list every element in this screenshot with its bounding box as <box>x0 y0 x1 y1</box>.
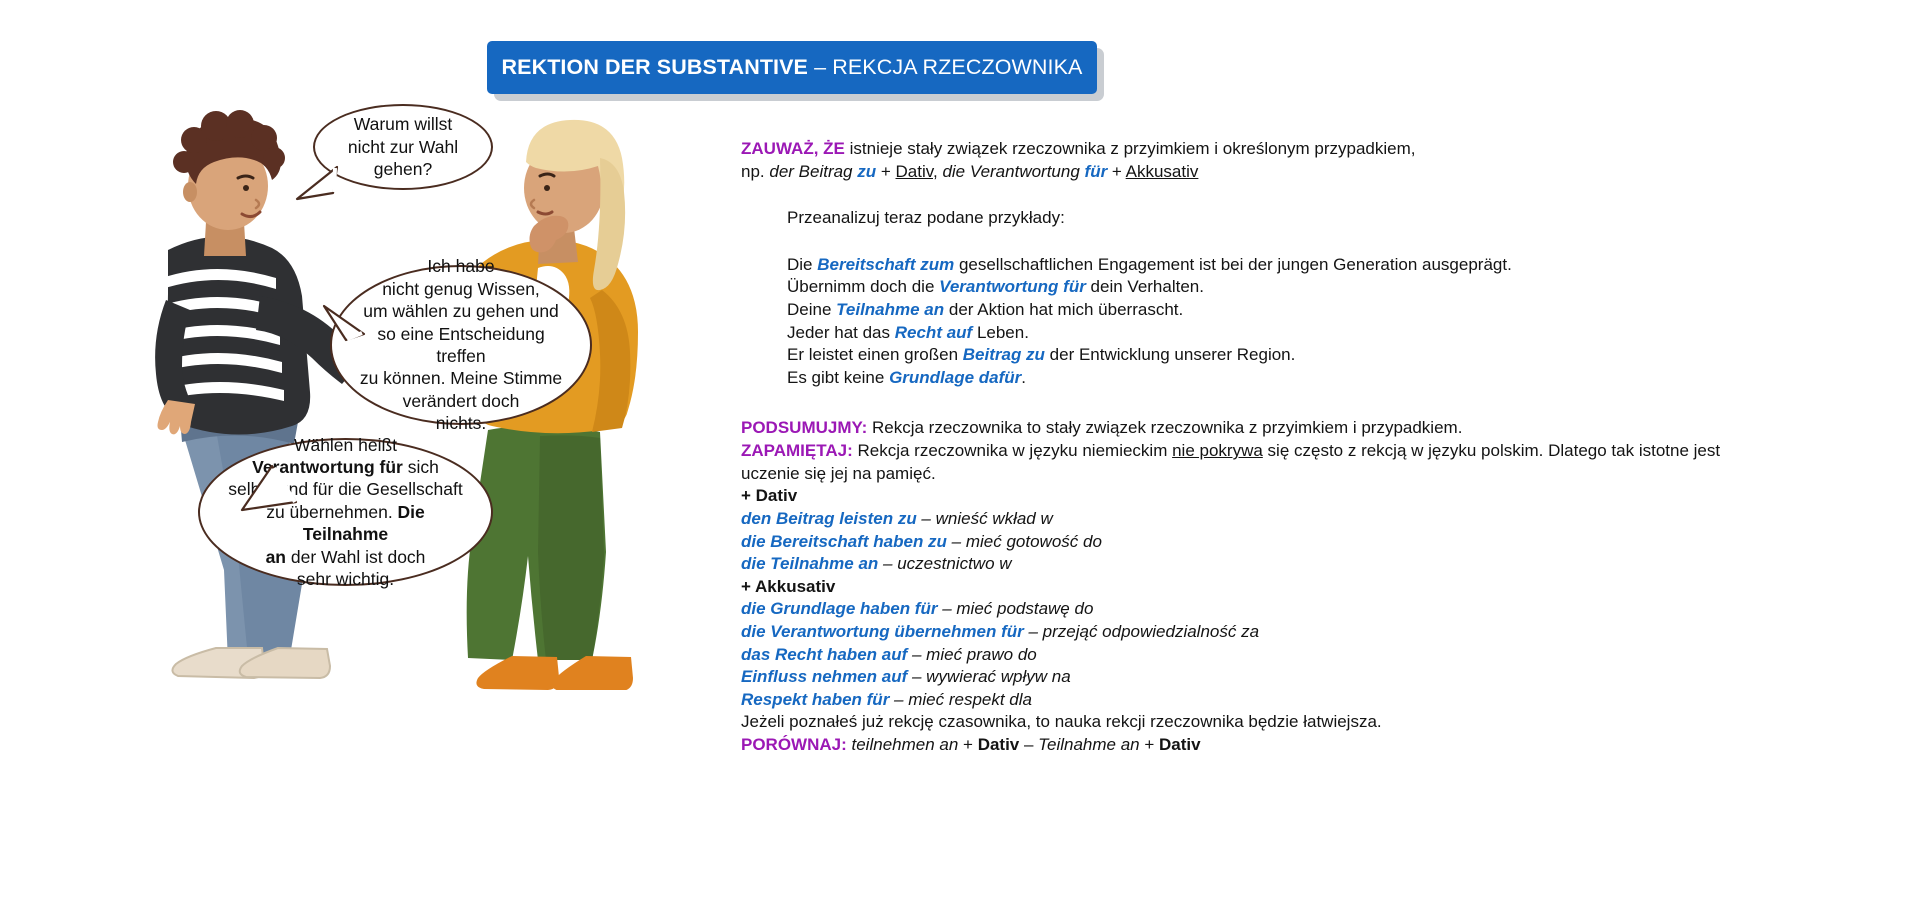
vocab-polish: mieć respekt dla <box>908 690 1032 709</box>
case-akkusativ-1: Akkusativ <box>1126 162 1199 181</box>
intro-line-1: ZAUWAŻ, ŻE istnieje stały związek rzeczo… <box>741 138 1751 161</box>
vocab-german: die Grundlage haben für <box>741 599 937 618</box>
vocab-german: das Recht haben auf <box>741 645 907 664</box>
bubble-line: verändert doch <box>354 390 568 412</box>
vocab-german: die Bereitschaft haben zu <box>741 532 947 551</box>
summary-block: PODSUMUJMY: Rekcja rzeczownika to stały … <box>741 417 1751 485</box>
vocab-dash: – <box>947 532 966 551</box>
bubble-line: Wählen heißt <box>224 434 467 456</box>
bubble-bold-phrase: an <box>266 547 286 567</box>
example-sentence: Er leistet einen großen Beitrag zu der E… <box>787 344 1751 367</box>
intro-block: ZAUWAŻ, ŻE istnieje stały związek rzeczo… <box>741 138 1751 183</box>
sentence-pre: Es gibt keine <box>787 368 889 387</box>
example-sentence: Übernimm doch die Verantwortung für dein… <box>787 276 1751 299</box>
vocab-german: die Teilnahme an <box>741 554 878 573</box>
vocab-polish: uczestnictwo w <box>897 554 1011 573</box>
vocab-dash: – <box>889 690 908 709</box>
example-sentence: Deine Teilnahme an der Aktion hat mich ü… <box>787 299 1751 322</box>
bubble-line: nicht genug Wissen, <box>354 278 568 300</box>
vocab-item: Respekt haben für – mieć respekt dla <box>741 689 1751 712</box>
bubble-line: nicht zur Wahl <box>348 136 458 158</box>
dativ-list: den Beitrag leisten zu – wnieść wkład w … <box>741 508 1751 576</box>
vocab-polish: wnieść wkład w <box>936 509 1053 528</box>
german-phrase: Teilnahme an <box>836 300 944 319</box>
zapamietaj-line: ZAPAMIĘTAJ: Rekcja rzeczownika w języku … <box>741 440 1751 485</box>
vocab-polish: wywierać wpływ na <box>926 667 1071 686</box>
sentence-pre: Er leistet einen großen <box>787 345 963 364</box>
speech-bubble-question: Warum willst nicht zur Wahl gehen? <box>313 104 493 190</box>
zapamietaj-underlined: nie pokrywa <box>1172 441 1263 460</box>
vocab-item: die Grundlage haben für – mieć podstawę … <box>741 598 1751 621</box>
vocab-german: Respekt haben für <box>741 690 889 709</box>
plus-2: + <box>1107 162 1125 181</box>
example-sentence: Es gibt keine Grundlage dafür. <box>787 367 1751 390</box>
bubble-line: so eine Entscheidung treffen <box>354 323 568 368</box>
spacer <box>741 230 1751 254</box>
keyword-zauwaz: ZAUWAŻ, ŻE <box>741 139 845 158</box>
bubble-line: nichts. <box>354 412 568 434</box>
german-phrase: Recht auf <box>895 323 972 342</box>
vocab-dash: – <box>907 645 926 664</box>
vocab-item: die Bereitschaft haben zu – mieć gotowoś… <box>741 531 1751 554</box>
sentence-post: gesellschaftlichen Engagement ist bei de… <box>954 255 1512 274</box>
speech-bubble-answer: Ich habe nicht genug Wissen, um wählen z… <box>330 265 592 425</box>
vocab-polish: przejąć odpowiedzialność za <box>1043 622 1259 641</box>
case-dativ-1: Dativ <box>896 162 933 181</box>
bubble-line: gehen? <box>348 158 458 180</box>
intro-prefix: np. <box>741 162 769 181</box>
grammar-content: ZAUWAŻ, ŻE istnieje stały związek rzeczo… <box>741 138 1751 757</box>
compare-noun-phrase: Teilnahme an <box>1038 735 1139 754</box>
vocab-polish: mieć prawo do <box>926 645 1037 664</box>
bubble-line: an der Wahl ist doch <box>224 546 467 568</box>
compare-verb-phrase: teilnehmen an <box>847 735 959 754</box>
compare-plus-2: + <box>1140 735 1159 754</box>
podsumujmy-text: Rekcja rzeczownika to stały związek rzec… <box>867 418 1462 437</box>
examples-list: Die Bereitschaft zum gesellschaftlichen … <box>741 254 1751 390</box>
vocab-dash: – <box>878 554 897 573</box>
vocab-item: den Beitrag leisten zu – wnieść wkład w <box>741 508 1751 531</box>
porownaj-line: PORÓWNAJ: teilnehmen an + Dativ – Teilna… <box>741 734 1751 757</box>
sentence-post: Leben. <box>972 323 1029 342</box>
bubble-text: sich <box>403 457 439 477</box>
header-banner-wrapper: REKTION DER SUBSTANTIVE – REKCJA RZECZOW… <box>487 41 1097 94</box>
intro-line-2: np. der Beitrag zu + Dativ, die Verantwo… <box>741 161 1751 184</box>
preposition-fuer: für <box>1085 162 1108 181</box>
banner-title-bold: REKTION DER SUBSTANTIVE <box>502 55 809 79</box>
sentence-pre: Übernimm doch die <box>787 277 939 296</box>
vocab-dash: – <box>1024 622 1043 641</box>
vocab-item: Einfluss nehmen auf – wywierać wpływ na <box>741 666 1751 689</box>
vocab-item: die Teilnahme an – uczestnictwo w <box>741 553 1751 576</box>
spacer <box>741 183 1751 207</box>
dativ-heading: + Dativ <box>741 485 1751 508</box>
banner-title-rest: – REKCJA RZECZOWNIKA <box>808 55 1082 79</box>
examples-heading: Przeanalizuj teraz podane przykłady: <box>741 207 1751 230</box>
bubble-answer-tail <box>318 300 366 346</box>
keyword-podsumujmy: PODSUMUJMY: <box>741 418 867 437</box>
plus-1: + <box>876 162 895 181</box>
bubble-question-tail <box>293 163 339 203</box>
german-phrase: Grundlage dafür <box>889 368 1021 387</box>
sentence-pre: Deine <box>787 300 836 319</box>
bubble-line: sehr wichtig. <box>224 568 467 590</box>
vocab-dash: – <box>937 599 956 618</box>
keyword-porownaj: PORÓWNAJ: <box>741 735 847 754</box>
bubble-text: der Wahl ist doch <box>286 547 425 567</box>
page-title: REKTION DER SUBSTANTIVE – REKCJA RZECZOW… <box>502 55 1083 80</box>
sentence-post: der Aktion hat mich überrascht. <box>944 300 1183 319</box>
vocab-polish: mieć podstawę do <box>956 599 1093 618</box>
vocab-german: den Beitrag leisten zu <box>741 509 917 528</box>
sentence-post: dein Verhalten. <box>1086 277 1204 296</box>
example-sentence: Die Bereitschaft zum gesellschaftlichen … <box>787 254 1751 277</box>
podsumujmy-line: PODSUMUJMY: Rekcja rzeczownika to stały … <box>741 417 1751 440</box>
bubble-line: zu können. Meine Stimme <box>354 367 568 389</box>
sentence-pre: Die <box>787 255 817 274</box>
bubble-line: Ich habe <box>354 255 568 277</box>
spacer <box>741 389 1751 417</box>
example-phrase-2: die Verantwortung <box>942 162 1084 181</box>
bubble-line: um wählen zu gehen und <box>354 300 568 322</box>
bubble-line: Warum willst <box>348 113 458 135</box>
closing-note: Jeżeli poznałeś już rekcję czasownika, t… <box>741 711 1751 734</box>
header-banner: REKTION DER SUBSTANTIVE – REKCJA RZECZOW… <box>487 41 1097 94</box>
vocab-item: die Verantwortung übernehmen für – przej… <box>741 621 1751 644</box>
sentence-pre: Jeder hat das <box>787 323 895 342</box>
zapamietaj-text-a: Rekcja rzeczownika w języku niemieckim <box>853 441 1172 460</box>
vocab-polish: mieć gotowość do <box>966 532 1102 551</box>
preposition-zu: zu <box>857 162 876 181</box>
intro-text: istnieje stały związek rzeczownika z prz… <box>845 139 1416 158</box>
compare-case-1: Dativ <box>978 735 1020 754</box>
sentence-post: . <box>1021 368 1026 387</box>
example-sentence: Jeder hat das Recht auf Leben. <box>787 322 1751 345</box>
sentence-post: der Entwicklung unserer Region. <box>1045 345 1295 364</box>
keyword-zapamietaj: ZAPAMIĘTAJ: <box>741 441 853 460</box>
vocab-dash: – <box>917 509 936 528</box>
vocab-german: die Verantwortung übernehmen für <box>741 622 1024 641</box>
akkusativ-heading: + Akkusativ <box>741 576 1751 599</box>
bubble-reply-tail <box>238 462 298 514</box>
compare-plus-1: + <box>958 735 977 754</box>
vocab-item: das Recht haben auf – mieć prawo do <box>741 644 1751 667</box>
german-phrase: Beitrag zu <box>963 345 1045 364</box>
vocab-german: Einfluss nehmen auf <box>741 667 907 686</box>
akkusativ-list: die Grundlage haben für – mieć podstawę … <box>741 598 1751 711</box>
german-phrase: Bereitschaft zum <box>817 255 954 274</box>
german-phrase: Verantwortung für <box>939 277 1086 296</box>
compare-dash: – <box>1019 735 1038 754</box>
vocab-dash: – <box>907 667 926 686</box>
example-phrase-1: der Beitrag <box>769 162 857 181</box>
compare-case-2: Dativ <box>1159 735 1201 754</box>
